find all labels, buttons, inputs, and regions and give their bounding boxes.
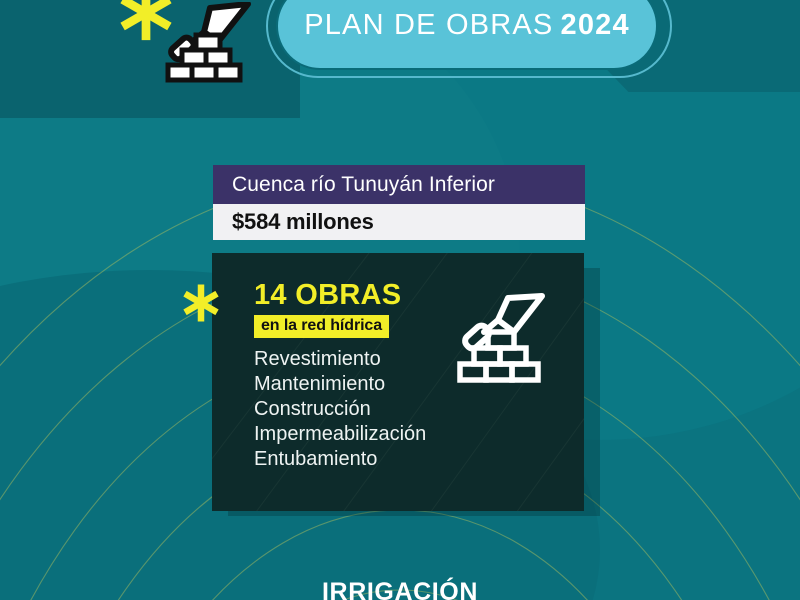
- cuenca-heading-bar: Cuenca río Tunuyán Inferior: [213, 165, 585, 204]
- list-item: Impermeabilización: [254, 422, 426, 447]
- list-item: Revestimiento: [254, 347, 426, 372]
- asterisk-star-icon: [181, 283, 221, 323]
- amount-value: $584 millones: [232, 209, 374, 235]
- list-item: Mantenimiento: [254, 372, 426, 397]
- header: PLAN DE OBRAS2024: [0, 0, 800, 110]
- header-pill: PLAN DE OBRAS2024: [276, 0, 658, 70]
- obras-count: 14 OBRAS: [254, 279, 401, 312]
- page-title: PLAN DE OBRAS2024: [304, 9, 630, 42]
- page-title-main: PLAN DE OBRAS: [304, 9, 553, 41]
- brand-name: IRRIGACIÓN: [322, 578, 478, 600]
- brick-wall-trowel-icon: [448, 288, 552, 388]
- obras-list: Revestimiento Mantenimiento Construcción…: [254, 347, 426, 472]
- footer-brand: IRRIGACIÓN: [0, 578, 800, 600]
- brick-wall-trowel-icon: [152, 2, 260, 90]
- cuenca-label: Cuenca río Tunuyán Inferior: [232, 173, 495, 197]
- page-title-year: 2024: [560, 9, 629, 41]
- infographic-canvas: PLAN DE OBRAS2024: [0, 0, 800, 600]
- list-item: Entubamiento: [254, 447, 426, 472]
- list-item: Construcción: [254, 397, 426, 422]
- amount-bar: $584 millones: [213, 204, 585, 240]
- obras-subtitle: en la red hídrica: [254, 315, 389, 338]
